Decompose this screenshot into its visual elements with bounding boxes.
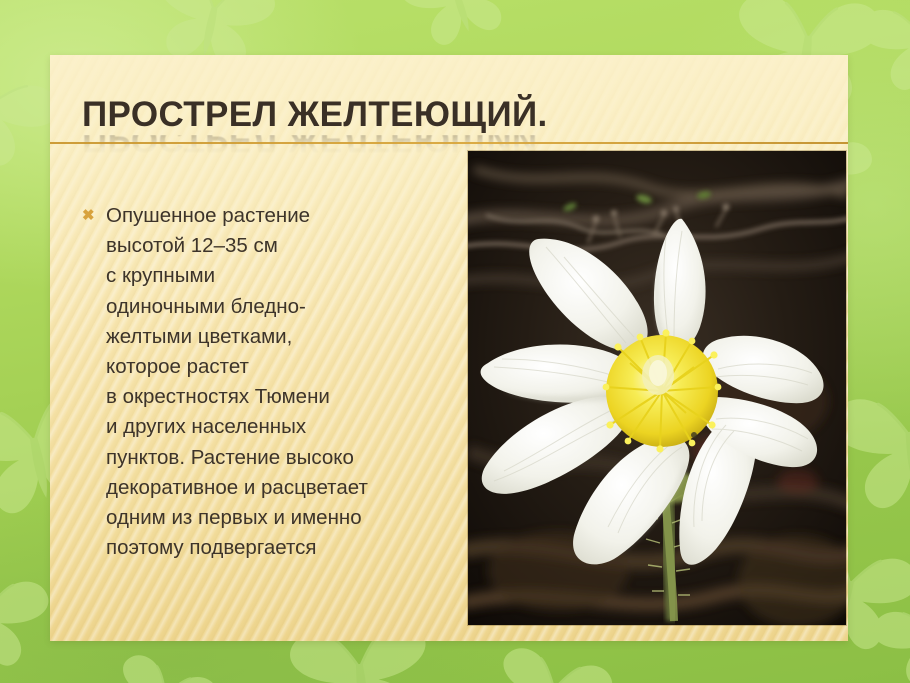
content-panel: ПРОСТРЕЛ ЖЕЛТЕЮЩИЙ. ПРОСТРЕЛ ЖЕЛТЕЮЩИЙ. … <box>50 55 848 641</box>
bullet-item-label: Опушенное растение высотой 12–35 см с кр… <box>106 201 472 563</box>
page-title: ПРОСТРЕЛ ЖЕЛТЕЮЩИЙ. <box>82 97 822 132</box>
body-text-block: ✖ Опушенное растение высотой 12–35 см с … <box>82 201 472 563</box>
flower-photo <box>468 151 846 625</box>
title-block: ПРОСТРЕЛ ЖЕЛТЕЮЩИЙ. ПРОСТРЕЛ ЖЕЛТЕЮЩИЙ. <box>82 97 822 157</box>
title-divider-rule <box>50 142 848 144</box>
presentation-slide: ПРОСТРЕЛ ЖЕЛТЕЮЩИЙ. ПРОСТРЕЛ ЖЕЛТЕЮЩИЙ. … <box>0 0 910 683</box>
list-item: ✖ Опушенное растение высотой 12–35 см с … <box>82 201 472 563</box>
bullet-cross-icon: ✖ <box>82 201 106 231</box>
